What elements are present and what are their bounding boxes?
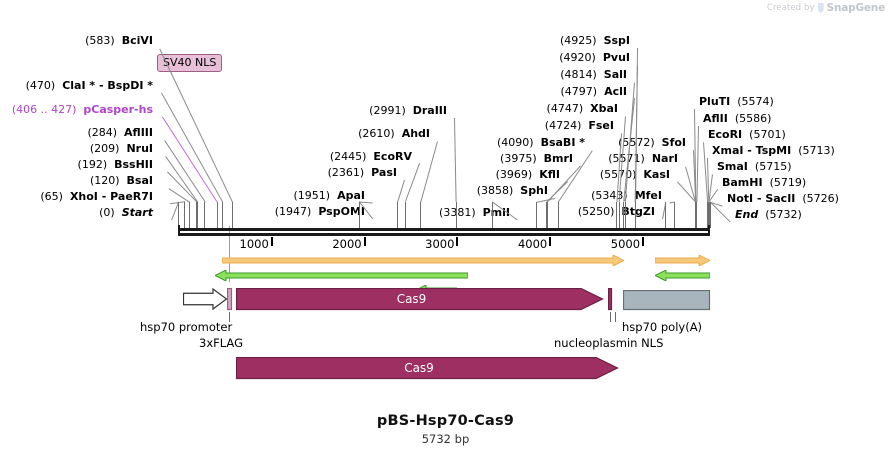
cut-site-tick bbox=[405, 202, 406, 228]
cut-site-tick bbox=[197, 202, 198, 228]
enzyme-name: SfoI bbox=[662, 136, 686, 149]
enzyme-label-sali[interactable]: (4814) SalI bbox=[0, 69, 627, 81]
enzyme-position: (5574) bbox=[737, 95, 774, 108]
enzyme-label-fsei[interactable]: (4724) FseI bbox=[0, 120, 614, 132]
ruler-cap-left bbox=[178, 225, 180, 236]
feature-3xflag[interactable] bbox=[227, 288, 233, 311]
cut-site-tick bbox=[558, 202, 559, 228]
cut-site-tick bbox=[665, 202, 666, 228]
ruler-tick-2000 bbox=[364, 237, 366, 246]
enzyme-name: NarI bbox=[652, 152, 678, 165]
caption-tick bbox=[229, 312, 230, 322]
snapgene-flag-icon bbox=[818, 3, 824, 13]
enzyme-name: SmaI bbox=[717, 160, 748, 173]
cut-site-tick bbox=[674, 202, 675, 228]
enzyme-label-noti-sacii[interactable]: NotI - SacII (5726) bbox=[727, 193, 839, 205]
ruler-tick-label-2000: 2000 bbox=[328, 237, 362, 251]
cut-site-tick bbox=[619, 202, 620, 228]
ruler-tick-label-1000: 1000 bbox=[235, 237, 269, 251]
cut-site-tick bbox=[420, 202, 421, 228]
enzyme-name: KasI bbox=[643, 168, 670, 181]
enzyme-position: (5250) bbox=[578, 205, 615, 218]
enzyme-label-smai[interactable]: SmaI (5715) bbox=[717, 161, 791, 173]
enzyme-position: (5732) bbox=[765, 208, 802, 221]
feature-caption-nucleoplasmin-nls: nucleoplasmin NLS bbox=[554, 336, 663, 350]
cut-site-tick bbox=[546, 202, 547, 228]
enzyme-name: XbaI bbox=[590, 102, 618, 115]
enzyme-position: (4724) bbox=[545, 119, 582, 132]
orf-green-right[interactable] bbox=[655, 270, 710, 281]
ruler-tick-1000 bbox=[271, 237, 273, 246]
plasmid-name: pBS-Hsp70-Cas9 bbox=[0, 413, 891, 429]
cut-site-tick bbox=[623, 202, 624, 228]
enzyme-position: (5715) bbox=[755, 160, 792, 173]
cut-site-tick bbox=[492, 202, 493, 228]
enzyme-position: (5713) bbox=[798, 144, 835, 157]
enzyme-name: BtgZI bbox=[621, 205, 655, 218]
enzyme-name: End bbox=[735, 208, 758, 221]
watermark-brand: SnapGene bbox=[827, 2, 885, 14]
enzyme-name: FseI bbox=[588, 119, 614, 132]
enzyme-label-acli[interactable]: (4797) AclI bbox=[0, 86, 627, 98]
enzyme-name: AflII bbox=[703, 112, 728, 125]
enzyme-name: MfeI bbox=[635, 189, 662, 202]
enzyme-name: SspI bbox=[604, 34, 630, 47]
feature-hsp70-promoter[interactable] bbox=[183, 288, 228, 311]
ruler-tick-5000 bbox=[642, 237, 644, 246]
enzyme-label-xmai-tspmi[interactable]: XmaI - TspMI (5713) bbox=[712, 145, 835, 157]
enzyme-label-kasi[interactable]: (5570) KasI bbox=[0, 169, 670, 181]
enzyme-label-btgzi[interactable]: (5250) BtgZI bbox=[0, 206, 655, 218]
cut-site-tick bbox=[232, 202, 233, 228]
leader-line bbox=[623, 99, 635, 202]
enzyme-label-aflii[interactable]: AflII (5586) bbox=[703, 113, 771, 125]
snapgene-watermark: Created by SnapGene bbox=[767, 2, 885, 14]
enzyme-label-nari[interactable]: (5571) NarI bbox=[0, 153, 678, 165]
enzyme-label-end[interactable]: End (5732) bbox=[735, 209, 802, 221]
cut-site-tick bbox=[222, 202, 223, 228]
cut-site-tick bbox=[456, 202, 457, 228]
cut-site-tick bbox=[359, 202, 360, 228]
cut-site-tick bbox=[635, 202, 636, 228]
enzyme-name: XmaI - TspMI bbox=[712, 144, 791, 157]
enzyme-position: (4925) bbox=[560, 34, 597, 47]
leader-line bbox=[696, 126, 699, 202]
enzyme-name: NotI - SacII bbox=[727, 192, 795, 205]
ruler-tick-label-3000: 3000 bbox=[420, 237, 454, 251]
enzyme-label-xbai[interactable]: (4747) XbaI bbox=[0, 103, 618, 115]
cut-site-tick bbox=[696, 202, 697, 228]
feature-nucleoplasmin-nls[interactable] bbox=[608, 288, 613, 311]
ruler-tick-label-4000: 4000 bbox=[513, 237, 547, 251]
cut-site-tick bbox=[189, 202, 190, 228]
cut-site-tick bbox=[204, 202, 205, 228]
cut-site-tick bbox=[536, 202, 537, 228]
cut-site-tick bbox=[625, 202, 626, 228]
enzyme-label-sfoi[interactable]: (5572) SfoI bbox=[0, 137, 686, 149]
ruler-tick-4000 bbox=[549, 237, 551, 246]
cut-site-tick bbox=[710, 202, 711, 228]
cut-site-tick bbox=[184, 202, 185, 228]
caption-tick bbox=[610, 312, 611, 322]
enzyme-label-pluti[interactable]: PluTI (5574) bbox=[699, 96, 774, 108]
cut-site-tick bbox=[616, 202, 617, 228]
enzyme-label-sspi[interactable]: (4925) SspI bbox=[0, 35, 630, 47]
enzyme-name: AclI bbox=[604, 85, 627, 98]
caption-tick bbox=[615, 312, 616, 322]
enzyme-label-pvui[interactable]: (4920) PvuI bbox=[0, 52, 630, 64]
feature-label-cas9-cds: Cas9 bbox=[236, 292, 587, 306]
enzyme-position: (4747) bbox=[547, 102, 584, 115]
enzyme-position: (5726) bbox=[802, 192, 839, 205]
plasmid-map-canvas: Created by SnapGene (583) BciVI(470) Cla… bbox=[0, 0, 891, 452]
enzyme-name: SalI bbox=[604, 68, 627, 81]
enzyme-name: PvuI bbox=[603, 51, 630, 64]
enzyme-position: (5586) bbox=[735, 112, 772, 125]
plasmid-size: 5732 bp bbox=[0, 432, 891, 446]
ruler-tick-label-5000: 5000 bbox=[606, 237, 640, 251]
feature-caption-3xflag: 3xFLAG bbox=[199, 336, 243, 350]
enzyme-label-bamhi[interactable]: BamHI (5719) bbox=[722, 177, 806, 189]
enzyme-position: (5719) bbox=[770, 176, 807, 189]
enzyme-position: (4920) bbox=[559, 51, 596, 64]
ruler-bar-lower bbox=[178, 233, 710, 236]
feature-caption-hsp70-polya: hsp70 poly(A) bbox=[622, 320, 702, 334]
ruler-cap-right bbox=[708, 225, 710, 236]
enzyme-position: (4814) bbox=[560, 68, 597, 81]
feature-hsp70-polya[interactable] bbox=[623, 290, 711, 311]
cut-site-tick bbox=[196, 202, 197, 228]
enzyme-position: (4797) bbox=[561, 85, 598, 98]
enzyme-label-ecori[interactable]: EcoRI (5701) bbox=[708, 129, 786, 141]
orf-orange-right[interactable] bbox=[655, 255, 710, 266]
enzyme-name: BamHI bbox=[722, 176, 763, 189]
enzyme-position: (5343) bbox=[591, 189, 628, 202]
feature-caption-hsp70-promoter: hsp70 promoter bbox=[140, 320, 232, 334]
cut-site-tick bbox=[547, 202, 548, 228]
ruler-bar-upper bbox=[178, 228, 710, 231]
orf-green-main[interactable] bbox=[215, 270, 468, 281]
enzyme-position: (5701) bbox=[749, 128, 786, 141]
feature-label-cas9-orf-bottom: Cas9 bbox=[236, 361, 602, 375]
cut-site-tick bbox=[397, 202, 398, 228]
orf-orange-main[interactable] bbox=[222, 255, 624, 266]
ruler-tick-3000 bbox=[456, 237, 458, 246]
watermark-prefix: Created by bbox=[767, 3, 815, 13]
cut-site-tick bbox=[217, 202, 218, 228]
enzyme-name: EcoRI bbox=[708, 128, 742, 141]
enzyme-name: PluTI bbox=[699, 95, 730, 108]
